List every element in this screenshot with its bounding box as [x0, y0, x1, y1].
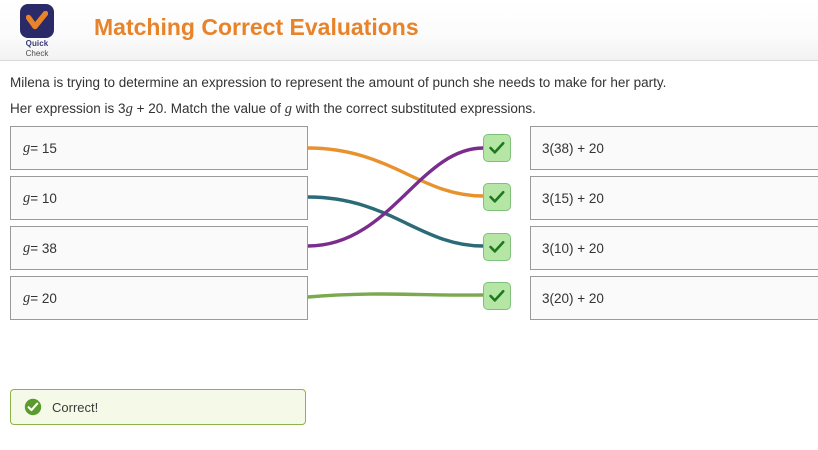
left-option-0[interactable]: g = 15 — [10, 126, 308, 170]
page-title: Matching Correct Evaluations — [94, 16, 419, 39]
feedback-banner: Correct! — [10, 389, 306, 425]
feedback-text: Correct! — [52, 400, 98, 415]
connector-line-green — [308, 294, 483, 297]
right-options-column: 3(38) + 20 3(15) + 20 3(10) + 20 3(20) +… — [530, 126, 818, 326]
right-option-1[interactable]: 3(15) + 20 — [530, 176, 818, 220]
check-icon — [489, 240, 505, 254]
left-options-column: g = 15 g = 10 g = 38 g = 20 — [10, 126, 308, 326]
left-option-3-variable: g — [23, 290, 30, 307]
connector-line-teal — [308, 197, 483, 246]
check-icon — [489, 190, 505, 204]
logo-word-check: Check — [26, 49, 49, 59]
left-option-0-value: = 15 — [30, 141, 57, 156]
match-status-badge-0[interactable] — [483, 134, 511, 162]
match-status-badge-1[interactable] — [483, 183, 511, 211]
prompt-line-2-mid: + 20. Match the value of — [133, 101, 285, 116]
check-icon — [489, 141, 505, 155]
right-option-3[interactable]: 3(20) + 20 — [530, 276, 818, 320]
check-mark-logo-icon — [20, 4, 54, 38]
left-option-2-variable: g — [23, 240, 30, 257]
question-prompt: Milena is trying to determine an express… — [0, 61, 818, 118]
prompt-variable-g-1: g — [126, 101, 133, 117]
connector-line-purple — [308, 148, 483, 246]
left-option-1[interactable]: g = 10 — [10, 176, 308, 220]
left-option-0-variable: g — [23, 140, 30, 157]
prompt-line-2-pre: Her expression is 3 — [10, 101, 126, 116]
prompt-variable-g-2: g — [285, 101, 292, 117]
check-icon — [489, 289, 505, 303]
quick-check-logo: Quick Check — [0, 0, 74, 59]
left-option-2[interactable]: g = 38 — [10, 226, 308, 270]
circle-check-icon — [24, 398, 42, 416]
left-option-3[interactable]: g = 20 — [10, 276, 308, 320]
prompt-line-2-post: with the correct substituted expressions… — [292, 101, 536, 116]
connector-line-orange — [308, 148, 483, 196]
left-option-3-value: = 20 — [30, 291, 57, 306]
logo-word-quick: Quick — [26, 39, 49, 49]
prompt-line-1: Milena is trying to determine an express… — [10, 74, 818, 92]
left-option-1-variable: g — [23, 190, 30, 207]
left-option-2-value: = 38 — [30, 241, 57, 256]
app-header: Quick Check Matching Correct Evaluations — [0, 0, 818, 61]
right-option-0[interactable]: 3(38) + 20 — [530, 126, 818, 170]
match-status-badge-3[interactable] — [483, 282, 511, 310]
right-option-2[interactable]: 3(10) + 20 — [530, 226, 818, 270]
prompt-line-2: Her expression is 3g + 20. Match the val… — [10, 100, 818, 118]
left-option-1-value: = 10 — [30, 191, 57, 206]
match-status-badge-2[interactable] — [483, 233, 511, 261]
matching-exercise: g = 15 g = 10 g = 38 g = 20 3(38) + 20 3… — [0, 126, 818, 326]
